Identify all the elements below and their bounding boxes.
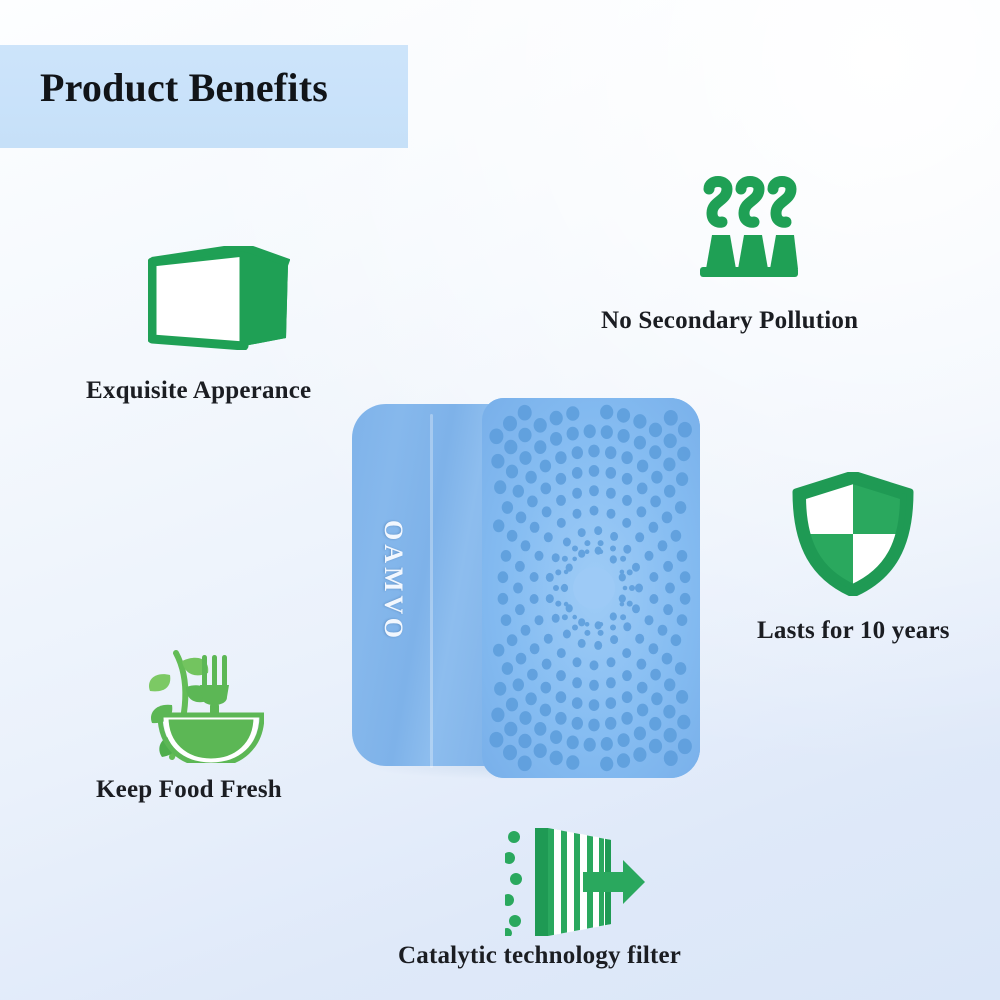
benefit-label-no-secondary-pollution: No Secondary Pollution [601, 307, 858, 335]
benefit-label-keep-food-fresh: Keep Food Fresh [96, 776, 282, 804]
cube-icon-svg [148, 246, 290, 350]
factory-icon [700, 175, 798, 277]
filter-arrow-icon-svg [505, 828, 645, 936]
shield-icon-svg [792, 472, 914, 596]
cube-icon [148, 246, 290, 350]
product-hole-pattern [482, 398, 700, 778]
product-image: OAMVO [352, 398, 700, 778]
product-seam-line [430, 414, 433, 768]
benefit-label-exquisite-apperance: Exquisite Apperance [86, 377, 311, 405]
infographic-page: Product Benefits Exquisite Apperance [0, 0, 1000, 1000]
factory-icon-svg [700, 175, 798, 277]
shield-icon [792, 472, 914, 596]
bowl-fork-leaf-icon [146, 645, 264, 763]
product-perforated-face [482, 398, 700, 778]
filter-arrow-icon [505, 828, 645, 936]
product-brand-text: OAMVO [378, 496, 408, 666]
bowl-fork-leaf-icon-svg [146, 645, 264, 763]
benefit-label-catalytic-technology-filter: Catalytic technology filter [398, 942, 681, 970]
page-title: Product Benefits [40, 68, 328, 108]
benefit-label-lasts-for-10-years: Lasts for 10 years [757, 617, 950, 645]
